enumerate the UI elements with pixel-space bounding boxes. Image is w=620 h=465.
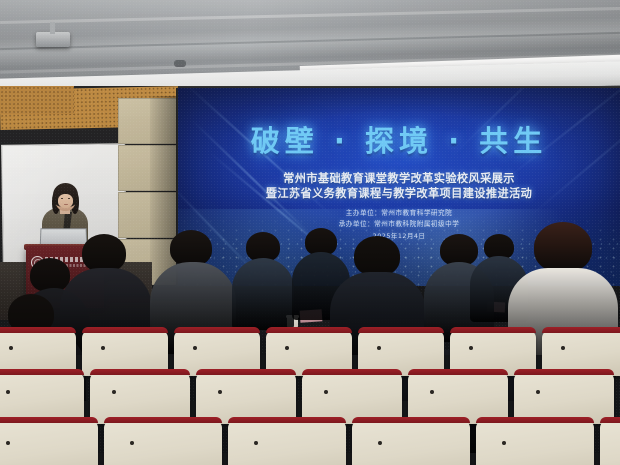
- seat-bolt-hole: [254, 441, 258, 445]
- seat-bolt-hole: [130, 441, 134, 445]
- auditorium-seat: [600, 420, 620, 465]
- auditorium-seat: [352, 420, 470, 465]
- audience-person: [232, 258, 294, 330]
- audience-head: [534, 222, 592, 272]
- seat-bolt-hole: [378, 441, 382, 445]
- seat-bolt-hole: [193, 346, 197, 350]
- seat-bolt-hole: [6, 441, 10, 445]
- seat-bolt-hole: [469, 346, 473, 350]
- auditorium-photo: 破壁 · 探境 · 共生 常州市基础教育课堂教学改革实验校风采展示 暨江苏省义务…: [0, 0, 620, 465]
- seat-bolt-hole: [285, 346, 289, 350]
- audience-head: [30, 258, 70, 292]
- audience-head: [354, 236, 400, 276]
- auditorium-seat: [0, 420, 98, 465]
- seat-bolt-hole: [377, 346, 381, 350]
- seat-bolt-hole: [101, 346, 105, 350]
- audience-head: [82, 234, 126, 272]
- auditorium-seat: [476, 420, 594, 465]
- auditorium-seat: [228, 420, 346, 465]
- seat-bolt-hole: [561, 346, 565, 350]
- seat-bolt-hole: [9, 346, 13, 350]
- audience-head: [170, 230, 212, 266]
- seat-bolt-hole: [502, 441, 506, 445]
- auditorium-seat: [104, 420, 222, 465]
